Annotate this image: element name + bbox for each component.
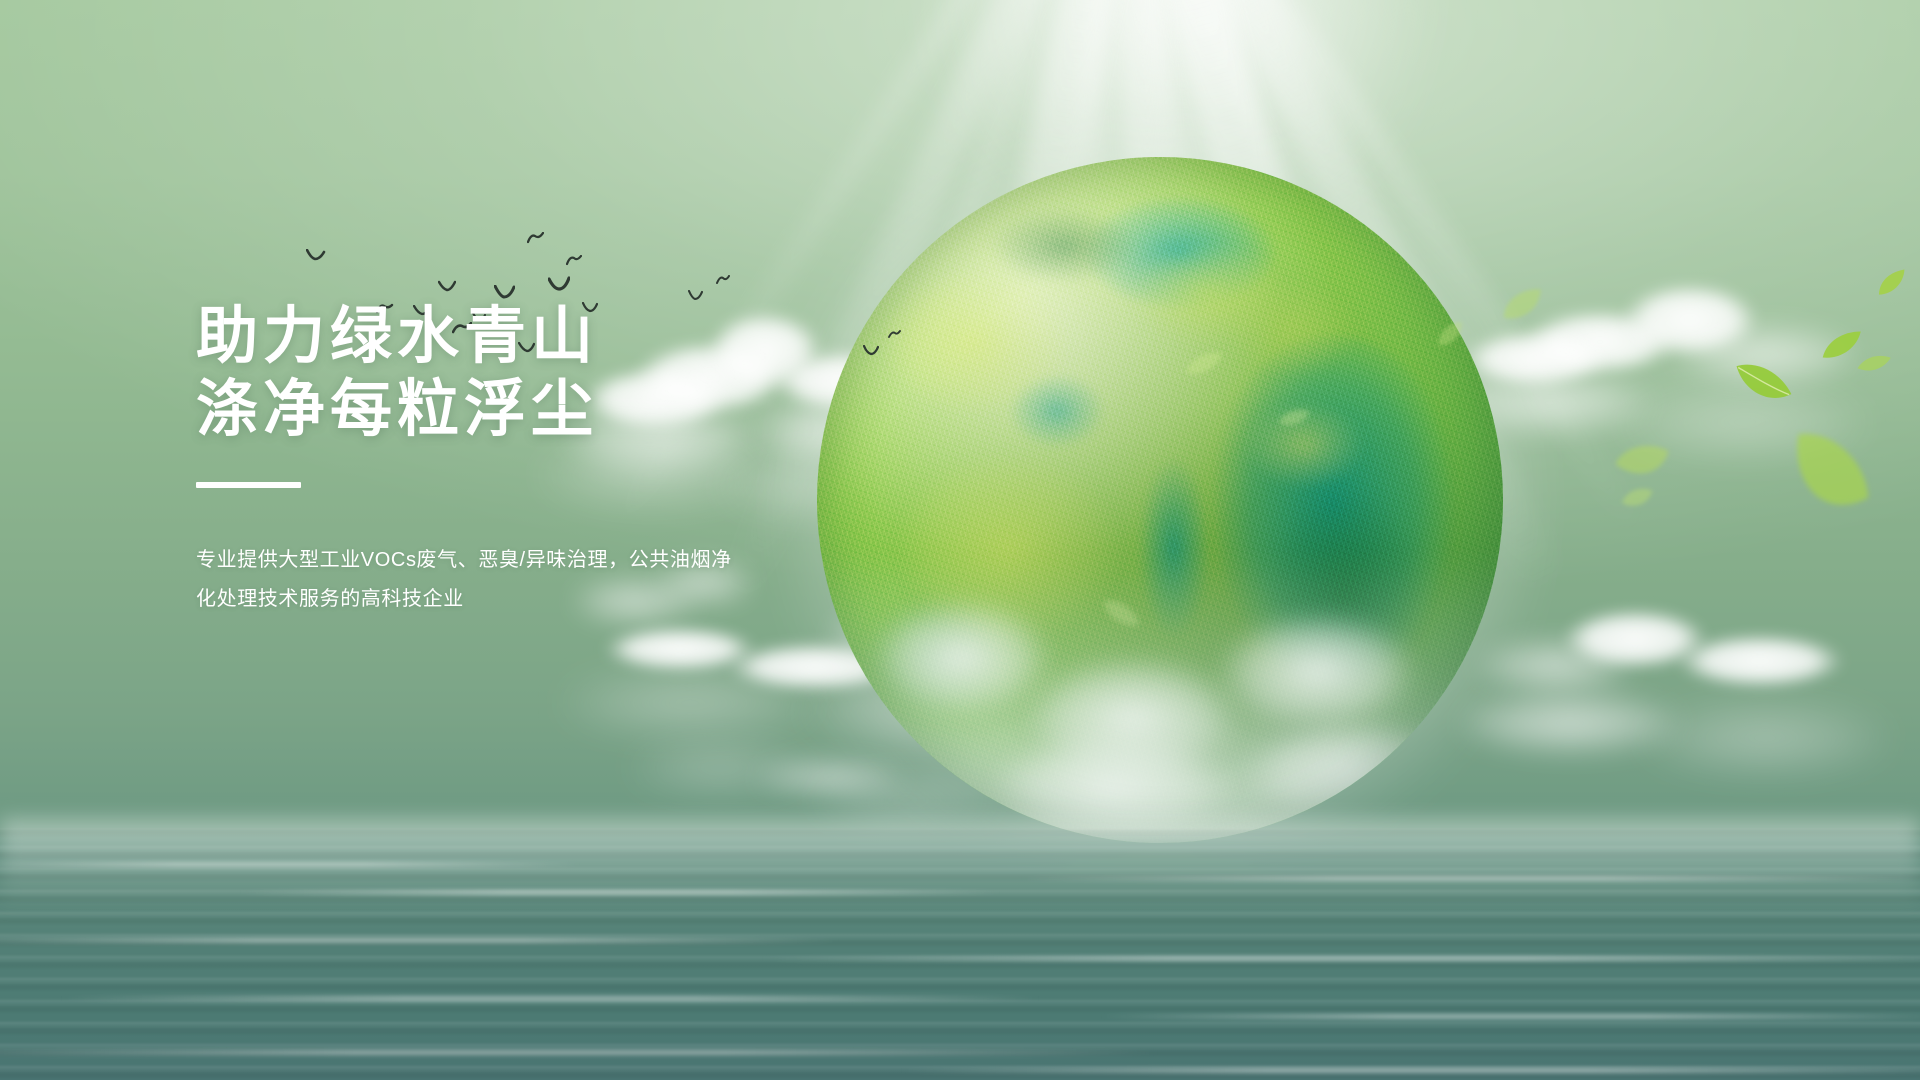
calm-water-surface xyxy=(0,828,1920,1080)
cloud-puff xyxy=(1600,272,1780,368)
water-highlight-streak xyxy=(900,1068,1920,1073)
water-highlight-streak xyxy=(240,890,1000,895)
cloud-puff xyxy=(600,740,840,796)
flying-bird xyxy=(494,285,515,299)
floating-leaf xyxy=(1728,358,1797,410)
flying-bird xyxy=(306,249,326,262)
flying-bird xyxy=(716,275,730,285)
water-highlight-streak xyxy=(60,996,1040,1001)
headline-line-2: 涤净每粒浮尘 xyxy=(196,373,916,446)
headline-line-1: 助力绿水青山 xyxy=(196,300,916,373)
floating-leaf xyxy=(1872,267,1911,298)
banner-copy: 助力绿水青山 涤净每粒浮尘 专业提供大型工业VOCs废气、恶臭/异味治理，公共油… xyxy=(196,300,916,619)
water-highlight-streak xyxy=(760,956,1920,961)
globe-mist-puff xyxy=(1215,706,1489,843)
green-grass-earth-globe xyxy=(817,157,1503,843)
water-highlight-streak xyxy=(0,938,840,943)
cloud-puff xyxy=(520,660,860,746)
water-highlight-streak xyxy=(1100,1014,1920,1019)
water-highlight-streak xyxy=(1020,876,1920,881)
water-highlight-streak xyxy=(0,862,580,867)
cloud-puff xyxy=(1600,690,1920,786)
flying-bird xyxy=(527,232,544,244)
cloud-puff xyxy=(1540,600,1730,678)
banner-stage: 助力绿水青山 涤净每粒浮尘 专业提供大型工业VOCs废气、恶臭/异味治理，公共油… xyxy=(0,0,1920,1080)
cloud-puff xyxy=(1650,626,1870,696)
floating-leaf xyxy=(1856,352,1892,375)
water-highlight-streak xyxy=(0,1050,1160,1055)
subtitle-line-2: 化处理技术服务的高科技企业 xyxy=(196,580,916,619)
floating-leaf xyxy=(1765,421,1887,537)
cloud-puff xyxy=(580,620,780,678)
subtitle-block: 专业提供大型工业VOCs废气、恶臭/异味治理，公共油烟净 化处理技术服务的高科技… xyxy=(196,541,916,619)
flying-bird xyxy=(438,280,456,292)
subtitle-line-1: 专业提供大型工业VOCs废气、恶臭/异味治理，公共油烟净 xyxy=(196,541,916,580)
headline-divider xyxy=(196,482,301,488)
flying-bird xyxy=(566,255,582,266)
flying-bird xyxy=(548,276,570,291)
